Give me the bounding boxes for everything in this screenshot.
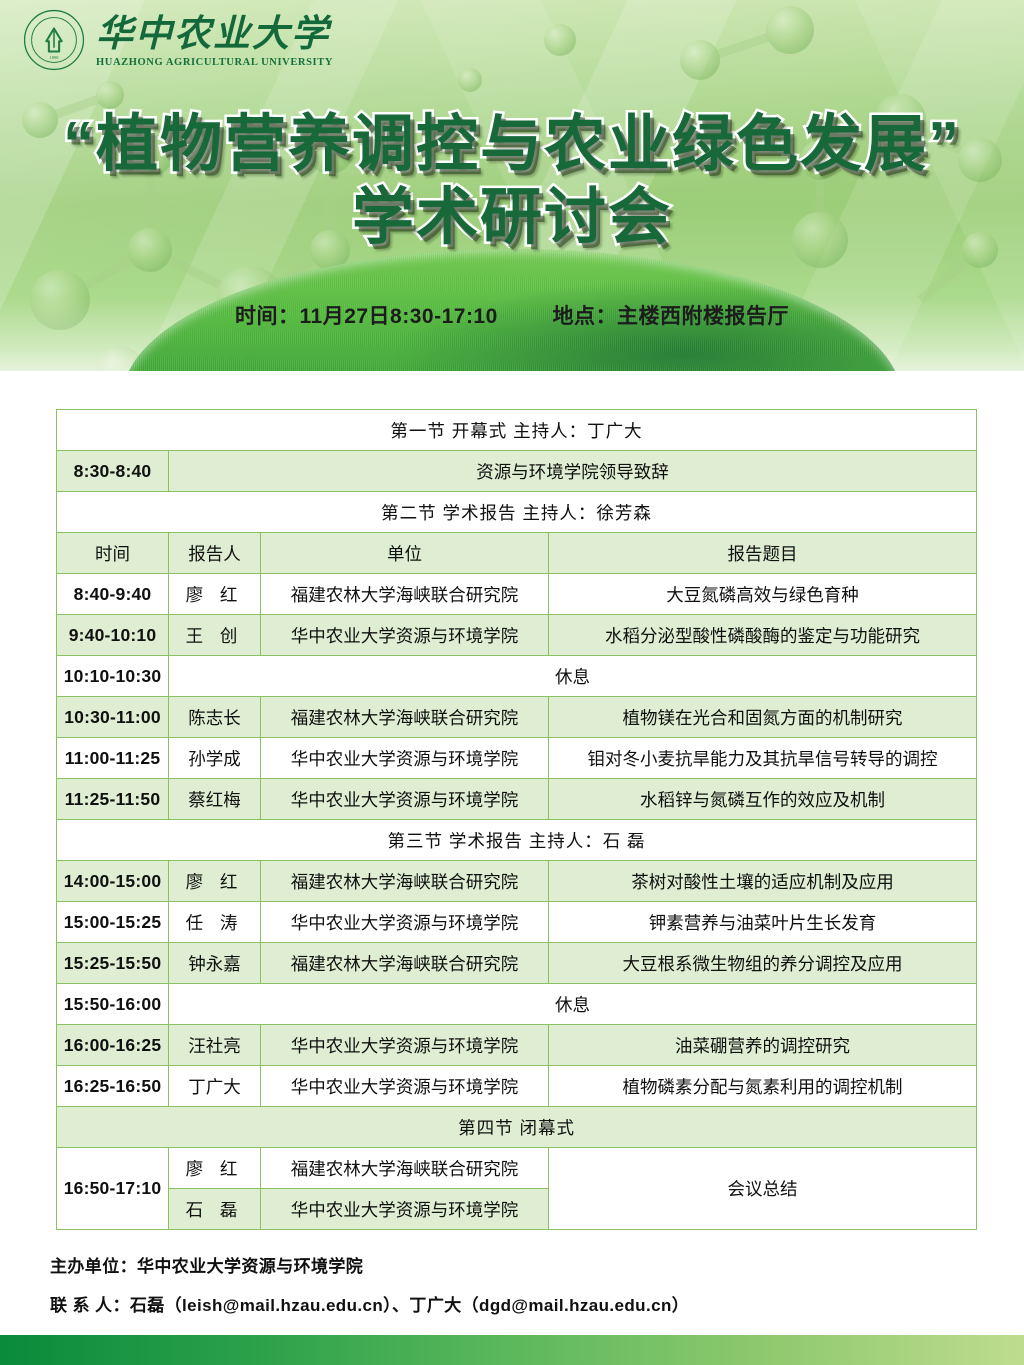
cell-person: 石 磊 — [169, 1189, 261, 1230]
cell-time: 15:00-15:25 — [57, 902, 169, 943]
poster-root: 1898 华中农业大学 HUAZHONG AGRICULTURAL UNIVER… — [0, 0, 1024, 1365]
cell-person: 廖 红 — [169, 574, 261, 615]
col-header-person: 报告人 — [169, 533, 261, 574]
organizer-line: 主办单位：华中农业大学资源与环境学院 — [50, 1252, 980, 1277]
cell-unit: 华中农业大学资源与环境学院 — [261, 1189, 549, 1230]
cell-person: 丁广大 — [169, 1066, 261, 1107]
cell-time: 10:30-11:00 — [57, 697, 169, 738]
cell-unit: 华中农业大学资源与环境学院 — [261, 1025, 549, 1066]
table-row: 11:00-11:25 孙学成 华中农业大学资源与环境学院 钼对冬小麦抗旱能力及… — [57, 738, 977, 779]
col-header-topic: 报告题目 — [549, 533, 977, 574]
cell-unit: 福建农林大学海峡联合研究院 — [261, 943, 549, 984]
contact-line: 联 系 人：石磊（leish@mail.hzau.edu.cn）、丁广大（dgd… — [50, 1291, 980, 1316]
cell-person: 王 创 — [169, 615, 261, 656]
cell-topic: 植物磷素分配与氮素利用的调控机制 — [549, 1066, 977, 1107]
table-row: 8:30-8:40 资源与环境学院领导致辞 — [57, 451, 977, 492]
cell-topic: 植物镁在光合和固氮方面的机制研究 — [549, 697, 977, 738]
svg-text:1898: 1898 — [50, 55, 60, 60]
cell-person: 钟永嘉 — [169, 943, 261, 984]
bottom-gradient-bar — [0, 1335, 1024, 1365]
table-row: 第四节 闭幕式 — [57, 1107, 977, 1148]
cell-person: 汪社亮 — [169, 1025, 261, 1066]
table-row: 10:30-11:00 陈志长 福建农林大学海峡联合研究院 植物镁在光合和固氮方… — [57, 697, 977, 738]
title-line-1: “植物营养调控与农业绿色发展” — [0, 108, 1024, 181]
cell-topic: 大豆氮磷高效与绿色育种 — [549, 574, 977, 615]
cell-time: 8:30-8:40 — [57, 451, 169, 492]
cell-topic: 水稻分泌型酸性磷酸酶的鉴定与功能研究 — [549, 615, 977, 656]
cell-time: 16:25-16:50 — [57, 1066, 169, 1107]
cell-unit: 华中农业大学资源与环境学院 — [261, 902, 549, 943]
table-row: 第二节 学术报告 主持人：徐芳森 — [57, 492, 977, 533]
cell-person: 孙学成 — [169, 738, 261, 779]
cell-person: 任 涛 — [169, 902, 261, 943]
cell-time: 16:50-17:10 — [57, 1148, 169, 1230]
cell-topic: 水稻锌与氮磷互作的效应及机制 — [549, 779, 977, 820]
section-header-3: 第三节 学术报告 主持人：石 磊 — [57, 820, 977, 861]
section-header-1: 第一节 开幕式 主持人：丁广大 — [57, 410, 977, 451]
cell-time: 15:50-16:00 — [57, 984, 169, 1025]
poster-header: 1898 华中农业大学 HUAZHONG AGRICULTURAL UNIVER… — [0, 0, 1024, 393]
cell-time: 11:00-11:25 — [57, 738, 169, 779]
cell-unit: 华中农业大学资源与环境学院 — [261, 738, 549, 779]
table-row-break: 15:50-16:00 休息 — [57, 984, 977, 1025]
table-row: 第三节 学术报告 主持人：石 磊 — [57, 820, 977, 861]
cell-time: 11:25-11:50 — [57, 779, 169, 820]
cell-topic: 钾素营养与油菜叶片生长发育 — [549, 902, 977, 943]
col-header-time: 时间 — [57, 533, 169, 574]
table-header-row: 时间 报告人 单位 报告题目 — [57, 533, 977, 574]
table-row: 16:25-16:50 丁广大 华中农业大学资源与环境学院 植物磷素分配与氮素利… — [57, 1066, 977, 1107]
hill-mask — [0, 371, 1024, 393]
cell-time: 9:40-10:10 — [57, 615, 169, 656]
cell-topic: 茶树对酸性土壤的适应机制及应用 — [549, 861, 977, 902]
cell-person: 廖 红 — [169, 861, 261, 902]
title-line-2: 学术研讨会 — [0, 181, 1024, 254]
cell-topic: 大豆根系微生物组的养分调控及应用 — [549, 943, 977, 984]
university-name-cn: 华中农业大学 — [96, 16, 333, 54]
cell-break-label: 休息 — [169, 984, 977, 1025]
university-name-en: HUAZHONG AGRICULTURAL UNIVERSITY — [96, 57, 333, 68]
table-row: 9:40-10:10 王 创 华中农业大学资源与环境学院 水稻分泌型酸性磷酸酶的… — [57, 615, 977, 656]
event-time: 时间：11月27日8:30-17:10 — [235, 305, 498, 328]
cell-person: 蔡红梅 — [169, 779, 261, 820]
section-header-2: 第二节 学术报告 主持人：徐芳森 — [57, 492, 977, 533]
cell-unit: 福建农林大学海峡联合研究院 — [261, 697, 549, 738]
cell-time: 15:25-15:50 — [57, 943, 169, 984]
table-row: 15:00-15:25 任 涛 华中农业大学资源与环境学院 钾素营养与油菜叶片生… — [57, 902, 977, 943]
event-meta: 时间：11月27日8:30-17:10 地点：主楼西附楼报告厅 — [0, 300, 1024, 330]
cell-unit: 福建农林大学海峡联合研究院 — [261, 1148, 549, 1189]
table-row: 11:25-11:50 蔡红梅 华中农业大学资源与环境学院 水稻锌与氮磷互作的效… — [57, 779, 977, 820]
cell-unit: 福建农林大学海峡联合研究院 — [261, 861, 549, 902]
cell-time: 14:00-15:00 — [57, 861, 169, 902]
table-row: 16:00-16:25 汪社亮 华中农业大学资源与环境学院 油菜硼营养的调控研究 — [57, 1025, 977, 1066]
cell-unit: 华中农业大学资源与环境学院 — [261, 615, 549, 656]
table-row-closing-a: 16:50-17:10 廖 红 福建农林大学海峡联合研究院 会议总结 — [57, 1148, 977, 1189]
table-row: 14:00-15:00 廖 红 福建农林大学海峡联合研究院 茶树对酸性土壤的适应… — [57, 861, 977, 902]
poster-title: “植物营养调控与农业绿色发展” 学术研讨会 — [0, 108, 1024, 254]
table-row-break: 10:10-10:30 休息 — [57, 656, 977, 697]
cell-opening-text: 资源与环境学院领导致辞 — [169, 451, 977, 492]
table-row: 8:40-9:40 廖 红 福建农林大学海峡联合研究院 大豆氮磷高效与绿色育种 — [57, 574, 977, 615]
cell-unit: 华中农业大学资源与环境学院 — [261, 1066, 549, 1107]
col-header-unit: 单位 — [261, 533, 549, 574]
cell-topic: 钼对冬小麦抗旱能力及其抗旱信号转导的调控 — [549, 738, 977, 779]
section-header-4: 第四节 闭幕式 — [57, 1107, 977, 1148]
cell-person: 廖 红 — [169, 1148, 261, 1189]
cell-time: 10:10-10:30 — [57, 656, 169, 697]
university-seal-icon: 1898 — [22, 8, 86, 72]
university-logo: 1898 华中农业大学 HUAZHONG AGRICULTURAL UNIVER… — [22, 8, 333, 72]
table-row: 第一节 开幕式 主持人：丁广大 — [57, 410, 977, 451]
cell-topic: 会议总结 — [549, 1148, 977, 1230]
cell-unit: 华中农业大学资源与环境学院 — [261, 779, 549, 820]
event-place: 地点：主楼西附楼报告厅 — [552, 305, 789, 328]
cell-unit: 福建农林大学海峡联合研究院 — [261, 574, 549, 615]
schedule-table-area: 第一节 开幕式 主持人：丁广大 8:30-8:40 资源与环境学院领导致辞 第二… — [56, 409, 976, 1230]
cell-break-label: 休息 — [169, 656, 977, 697]
cell-topic: 油菜硼营养的调控研究 — [549, 1025, 977, 1066]
cell-time: 8:40-9:40 — [57, 574, 169, 615]
cell-person: 陈志长 — [169, 697, 261, 738]
cell-time: 16:00-16:25 — [57, 1025, 169, 1066]
table-row: 15:25-15:50 钟永嘉 福建农林大学海峡联合研究院 大豆根系微生物组的养… — [57, 943, 977, 984]
schedule-table: 第一节 开幕式 主持人：丁广大 8:30-8:40 资源与环境学院领导致辞 第二… — [56, 409, 977, 1230]
poster-footer: 主办单位：华中农业大学资源与环境学院 联 系 人：石磊（leish@mail.h… — [50, 1252, 980, 1330]
